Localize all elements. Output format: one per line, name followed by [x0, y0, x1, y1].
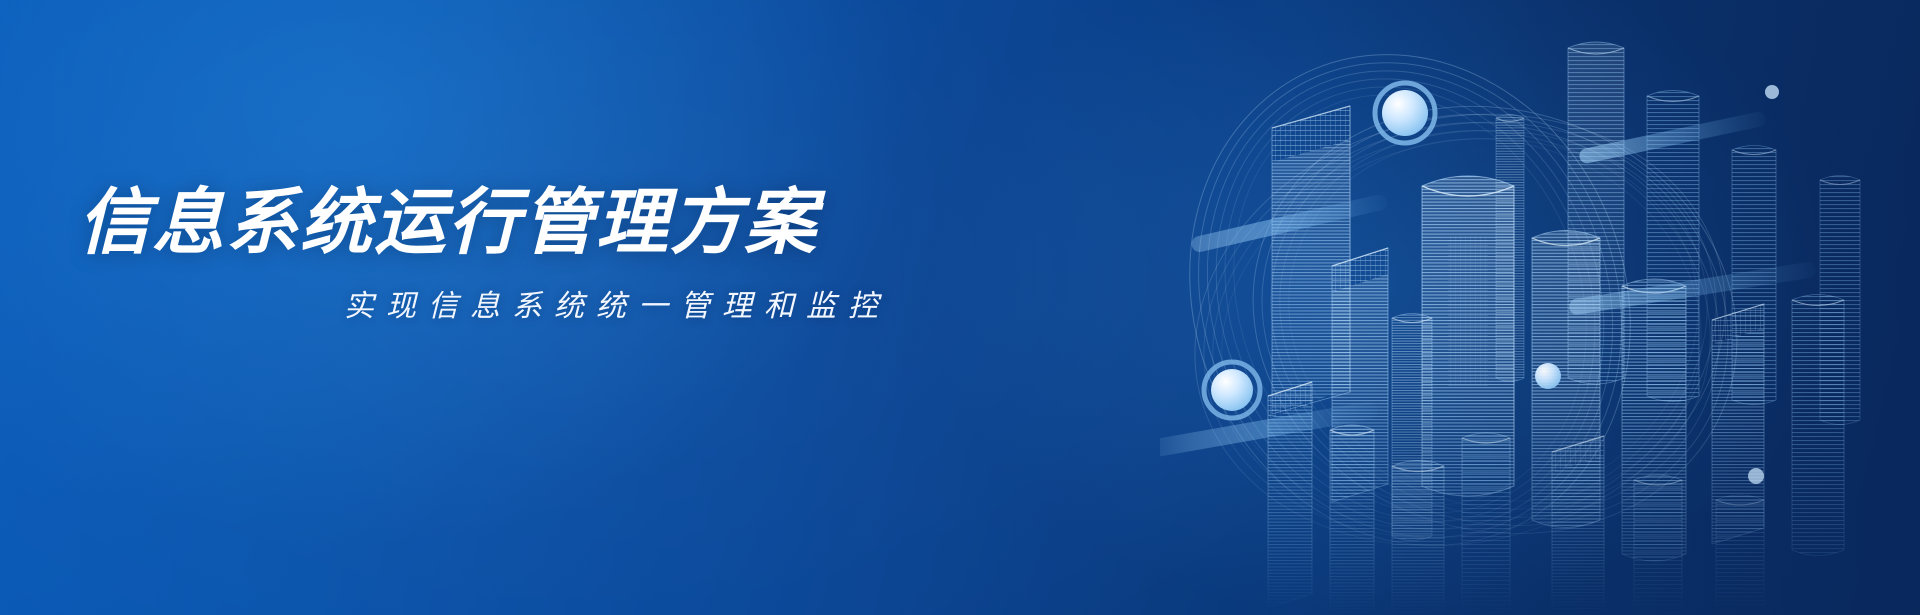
banner-root: 信息系统运行管理方案 实现信息系统统一管理和监控 — [0, 0, 1920, 615]
light-streak — [1190, 193, 1388, 254]
wireframe-city-illustration — [1160, 0, 1920, 615]
glow-node-small-upper — [1765, 85, 1779, 99]
page-title: 信息系统运行管理方案 — [78, 186, 898, 261]
glow-node-small-lower — [1748, 468, 1764, 484]
glow-node-large-top — [1375, 83, 1435, 143]
background-right-shade — [1300, 0, 1920, 615]
light-streak — [1578, 110, 1767, 164]
glow-node-small-right — [1535, 363, 1561, 389]
light-streak — [1160, 400, 1380, 458]
glow-node-large-bottom — [1204, 362, 1260, 418]
light-streak — [1568, 261, 1817, 316]
banner-text-block: 信息系统运行管理方案 实现信息系统统一管理和监控 — [78, 186, 898, 325]
page-subtitle: 实现信息系统统一管理和监控 — [78, 281, 898, 325]
